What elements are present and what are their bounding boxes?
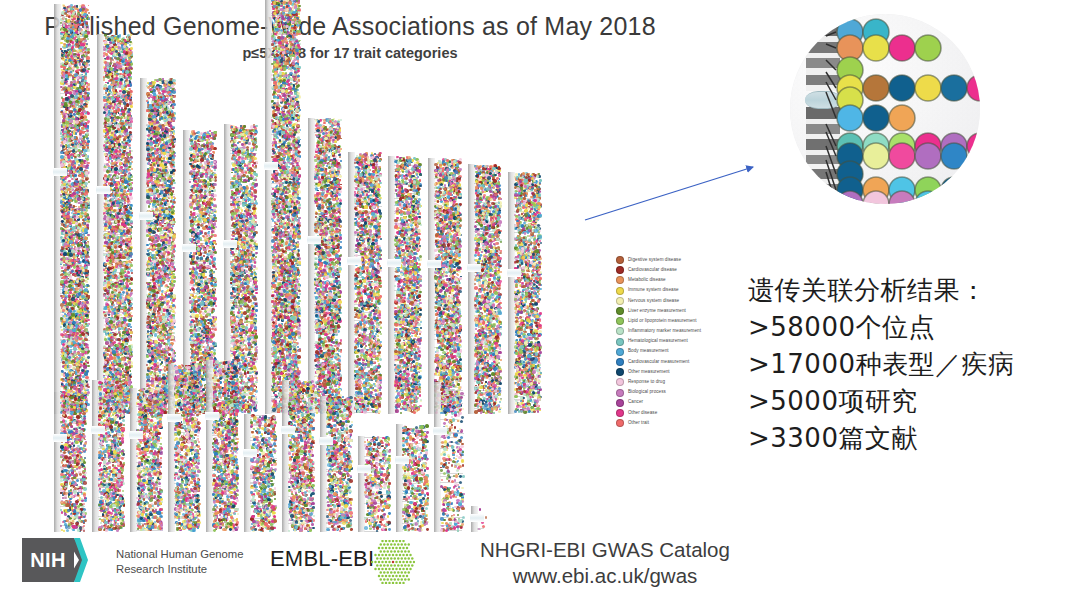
association-dot (123, 146, 126, 149)
association-dot (159, 155, 162, 158)
association-dot (196, 414, 199, 417)
association-dot (307, 435, 309, 437)
association-dot (281, 174, 283, 176)
legend-item-label: Digestive system disease (628, 258, 681, 263)
association-dot (131, 259, 133, 261)
association-dot (117, 82, 119, 84)
association-dot (164, 298, 167, 301)
association-dot (453, 245, 455, 247)
association-dot (460, 493, 463, 496)
association-dot (450, 207, 453, 210)
association-dot (114, 250, 116, 252)
embl-logo-dot (385, 561, 388, 564)
association-dot (63, 319, 65, 321)
association-dot (403, 370, 406, 373)
association-dot (273, 263, 275, 265)
association-dot (396, 343, 399, 346)
association-dot (64, 287, 68, 291)
association-dot (191, 475, 194, 478)
association-dot (374, 389, 377, 392)
association-dot (143, 420, 147, 424)
association-dot (425, 502, 428, 505)
embl-logo-dot (401, 578, 404, 581)
embl-logo-dot (406, 575, 409, 578)
association-dot (539, 312, 541, 314)
association-dot (166, 134, 168, 136)
association-dot (436, 357, 439, 360)
ideogram-band (806, 22, 840, 27)
association-dot (128, 63, 131, 66)
association-dot (226, 508, 229, 511)
association-dot (481, 268, 484, 271)
association-dot (486, 393, 489, 396)
association-dot (156, 325, 159, 328)
association-dot-magnified (863, 35, 889, 61)
association-dot (163, 152, 166, 155)
association-dot (360, 392, 363, 395)
association-dot (114, 183, 117, 186)
association-dot (368, 298, 370, 300)
association-dot (162, 313, 164, 315)
legend-color-swatch (616, 276, 624, 284)
centromere (470, 514, 484, 522)
association-dot (297, 7, 300, 10)
association-dot (379, 313, 381, 315)
association-dot (145, 495, 148, 498)
association-dot (63, 374, 65, 376)
association-dot (254, 141, 257, 144)
association-dot (351, 424, 353, 426)
association-dot (404, 274, 407, 277)
association-dot (225, 457, 228, 460)
association-dot (204, 152, 207, 155)
association-dot (335, 349, 337, 351)
association-dot (197, 470, 199, 472)
association-dot (108, 446, 110, 448)
association-dot (238, 335, 240, 337)
association-dot (528, 202, 531, 205)
association-dot (243, 125, 246, 128)
association-dot (183, 456, 185, 458)
association-dot (114, 57, 116, 59)
annotation-text-block: 遗传关联分析结果： >58000个位点 >17000种表型／疾病 >5000项研… (748, 272, 1068, 457)
association-dot (170, 339, 172, 341)
association-dot (413, 411, 416, 414)
association-dot (63, 213, 65, 215)
association-dot (388, 488, 391, 491)
association-dot (460, 420, 463, 423)
association-dot (120, 275, 123, 278)
association-dot (86, 248, 88, 250)
association-dot (312, 407, 314, 409)
chromosome-Y (477, 506, 487, 532)
association-dot (453, 429, 455, 431)
association-dot (246, 368, 249, 371)
association-dot (487, 204, 490, 207)
association-dot (317, 328, 319, 330)
embl-logo-dot (387, 564, 390, 567)
association-dot (157, 495, 160, 498)
association-dot (492, 353, 495, 356)
association-dot (372, 181, 375, 184)
association-dot (177, 431, 181, 435)
association-dot (87, 365, 89, 367)
association-dot (163, 327, 166, 330)
association-dot (481, 316, 484, 319)
association-dot (288, 221, 290, 223)
association-dot (480, 254, 482, 256)
association-dot (280, 36, 284, 40)
association-dot (345, 494, 348, 497)
association-dot (198, 503, 201, 506)
association-dot (526, 351, 529, 354)
association-dot (248, 263, 251, 266)
association-dot (60, 261, 63, 264)
association-dot (418, 193, 421, 196)
association-dot (484, 243, 487, 246)
association-dot (413, 348, 415, 350)
association-dot (126, 215, 128, 217)
embl-logo-dot (406, 561, 409, 564)
embl-logo-dot (390, 564, 393, 567)
association-dot (289, 67, 292, 70)
association-dot (138, 423, 141, 426)
association-dot (152, 156, 154, 158)
embl-logo-dot (385, 554, 388, 557)
association-dot (79, 49, 82, 52)
association-dot (255, 252, 257, 254)
association-dot (200, 285, 202, 287)
association-dot (296, 352, 298, 354)
association-dot (445, 289, 448, 292)
association-dot (142, 519, 144, 521)
association-dot (335, 219, 338, 222)
association-dot (409, 292, 411, 294)
association-dot (288, 152, 290, 154)
association-dot (249, 159, 251, 161)
association-dot (294, 167, 296, 169)
association-dot (315, 148, 318, 151)
association-dot (218, 368, 222, 372)
association-dot (298, 21, 301, 24)
association-dot (226, 406, 229, 409)
embl-logo-dot (376, 564, 379, 567)
association-dot (254, 195, 257, 198)
association-dot (240, 125, 242, 127)
association-dot (232, 177, 236, 181)
association-dot (330, 505, 332, 507)
association-dot (278, 301, 281, 304)
association-dot (457, 460, 459, 462)
association-dot (199, 381, 201, 383)
association-dot (443, 193, 445, 195)
association-dot (153, 168, 156, 171)
association-dot (206, 331, 208, 333)
association-dot (196, 399, 199, 402)
association-dot (444, 268, 446, 270)
association-dot (320, 350, 323, 353)
association-dot (189, 395, 191, 397)
association-dot (86, 101, 89, 104)
association-dot (158, 344, 161, 347)
association-dot (339, 370, 341, 372)
association-dot (405, 383, 407, 385)
association-dot (332, 475, 335, 478)
association-dot (200, 320, 203, 323)
association-dot (84, 442, 87, 445)
legend-color-swatch (616, 338, 624, 346)
association-dot (286, 346, 288, 348)
association-dot (439, 284, 441, 286)
association-dot (362, 244, 365, 247)
association-dot (271, 246, 274, 249)
association-dot (121, 175, 123, 177)
association-dot (365, 318, 367, 320)
association-dot (307, 418, 309, 420)
association-dot (175, 422, 178, 425)
association-dot (412, 389, 414, 391)
association-dot (106, 367, 109, 370)
association-dot (456, 182, 459, 185)
association-dot (275, 233, 278, 236)
association-dot (253, 265, 256, 268)
association-dot (61, 66, 63, 68)
association-dot (70, 98, 73, 101)
association-dot (115, 197, 117, 199)
association-dot (405, 440, 408, 443)
association-dot (379, 389, 381, 391)
association-dot (68, 180, 70, 182)
embl-logo-dot (392, 554, 395, 557)
association-dot (280, 372, 283, 375)
association-dot (267, 432, 270, 435)
chromosome-14 (98, 380, 125, 532)
association-dot (160, 284, 163, 287)
association-dot (205, 334, 207, 336)
association-dot (242, 387, 244, 389)
association-dot (456, 499, 459, 502)
association-dot (484, 345, 488, 349)
association-dot (119, 162, 122, 165)
association-dot (207, 166, 209, 168)
association-dot (332, 166, 334, 168)
association-dot (126, 386, 129, 389)
catalog-name: NHGRI-EBI GWAS Catalog (440, 538, 770, 563)
association-dot (320, 218, 322, 220)
association-dot (339, 366, 341, 368)
association-dot (118, 364, 122, 368)
association-dot (500, 271, 502, 273)
association-dot (326, 382, 330, 386)
association-dot (401, 177, 403, 179)
association-dot (273, 256, 275, 258)
association-dot (498, 311, 501, 314)
association-dot (308, 394, 311, 397)
association-dot (526, 173, 529, 176)
association-dot (326, 251, 329, 254)
association-dot (172, 172, 175, 175)
association-dot (155, 452, 158, 455)
association-dot (358, 199, 361, 202)
association-dot (109, 218, 112, 221)
association-dot (378, 376, 381, 379)
association-dot (207, 202, 210, 205)
association-dot (149, 412, 151, 414)
association-dot (521, 213, 523, 215)
association-dot (106, 170, 109, 173)
association-dot (477, 357, 479, 359)
association-dot (292, 213, 296, 217)
association-dot (147, 134, 150, 137)
association-dot (516, 405, 519, 408)
association-dot (242, 399, 245, 402)
embl-logo-dot (397, 557, 400, 560)
association-dot (419, 245, 421, 247)
association-dot (147, 128, 149, 130)
association-dot (368, 350, 370, 352)
embl-logo-dot (380, 557, 383, 560)
association-dot (159, 502, 162, 505)
association-dot (286, 124, 288, 126)
association-dot (288, 103, 290, 105)
association-dot (196, 481, 199, 484)
association-dot (458, 245, 461, 248)
association-dot (516, 301, 519, 304)
association-dot (518, 363, 521, 366)
association-dot (279, 133, 281, 135)
association-dot (80, 336, 82, 338)
association-dot (173, 199, 175, 201)
association-dot (358, 314, 361, 317)
association-dot (87, 26, 89, 28)
association-dot (198, 413, 200, 415)
association-dot (111, 251, 114, 254)
association-dot (195, 295, 198, 298)
association-dot (445, 529, 448, 532)
association-dot (244, 207, 246, 209)
association-dot (331, 312, 333, 314)
association-dot (62, 160, 65, 163)
association-dot (146, 109, 149, 112)
association-dot (119, 417, 122, 420)
association-dot (284, 106, 287, 109)
association-dot (168, 353, 171, 356)
association-dot (276, 10, 279, 13)
association-dot (175, 370, 178, 373)
centromere (167, 414, 181, 422)
association-dot (120, 475, 123, 478)
association-dot (294, 466, 297, 469)
association-dot (152, 228, 154, 230)
association-dot-field (98, 380, 125, 532)
association-dot (175, 394, 178, 397)
association-dot (499, 204, 502, 207)
association-dot (63, 530, 65, 532)
embl-logo-dot (378, 568, 381, 571)
legend-color-swatch (616, 358, 624, 366)
association-dot (388, 472, 390, 474)
association-dot (104, 284, 106, 286)
association-dot (364, 441, 366, 443)
association-dot (457, 347, 460, 350)
association-dot (438, 160, 440, 162)
association-dot (148, 188, 151, 191)
embl-logo-dot (402, 540, 405, 542)
association-dot (413, 478, 415, 480)
association-dot (282, 51, 285, 54)
association-dot (198, 441, 200, 443)
association-dot (318, 332, 320, 334)
association-dot (411, 307, 413, 309)
association-dot (65, 350, 67, 352)
association-dot (418, 280, 421, 283)
legend-item: Lipid or lipoprotein measurement (616, 316, 741, 326)
association-dot (355, 387, 358, 390)
association-dot (437, 218, 440, 221)
association-dot (242, 278, 244, 280)
association-dot (64, 366, 66, 368)
legend-item-label: Body measurement (628, 349, 669, 354)
association-dot (459, 475, 462, 478)
legend-color-swatch (616, 317, 624, 325)
association-dot (60, 445, 63, 448)
association-dot (60, 326, 62, 328)
association-dot (427, 494, 429, 496)
association-dot (295, 150, 298, 153)
association-dot (79, 74, 82, 77)
association-dot (192, 408, 195, 411)
association-dot (448, 254, 450, 256)
association-dot (105, 234, 108, 237)
association-dot (524, 299, 527, 302)
association-dot (234, 362, 237, 365)
association-dot (244, 232, 247, 235)
association-dot (330, 324, 332, 326)
association-dot (126, 323, 128, 325)
association-dot (117, 289, 120, 292)
association-dot-magnified (915, 75, 941, 101)
association-dot (88, 181, 90, 183)
association-dot-magnified (915, 143, 941, 169)
association-dot (411, 454, 414, 457)
association-dot (405, 509, 409, 513)
association-dot (84, 228, 88, 232)
association-dot (519, 350, 523, 354)
association-dot (453, 337, 457, 341)
association-dot (325, 168, 327, 170)
association-dot (65, 492, 68, 495)
association-dot (184, 407, 187, 410)
association-dot (271, 43, 273, 45)
association-dot-field (434, 158, 462, 414)
association-dot (148, 257, 150, 259)
embl-logo-dot (406, 554, 409, 557)
embl-logo-dot (378, 554, 381, 557)
association-dot (154, 135, 157, 138)
association-dot (232, 274, 235, 277)
association-dot (292, 364, 294, 366)
association-dot (293, 77, 296, 80)
association-dot (215, 483, 218, 486)
association-dot (349, 479, 353, 483)
association-dot (66, 529, 69, 532)
association-dot (316, 194, 319, 197)
association-dot (323, 211, 325, 213)
association-dot (299, 509, 302, 512)
association-dot (269, 530, 271, 532)
association-dot (163, 105, 166, 108)
association-dot (61, 370, 65, 374)
